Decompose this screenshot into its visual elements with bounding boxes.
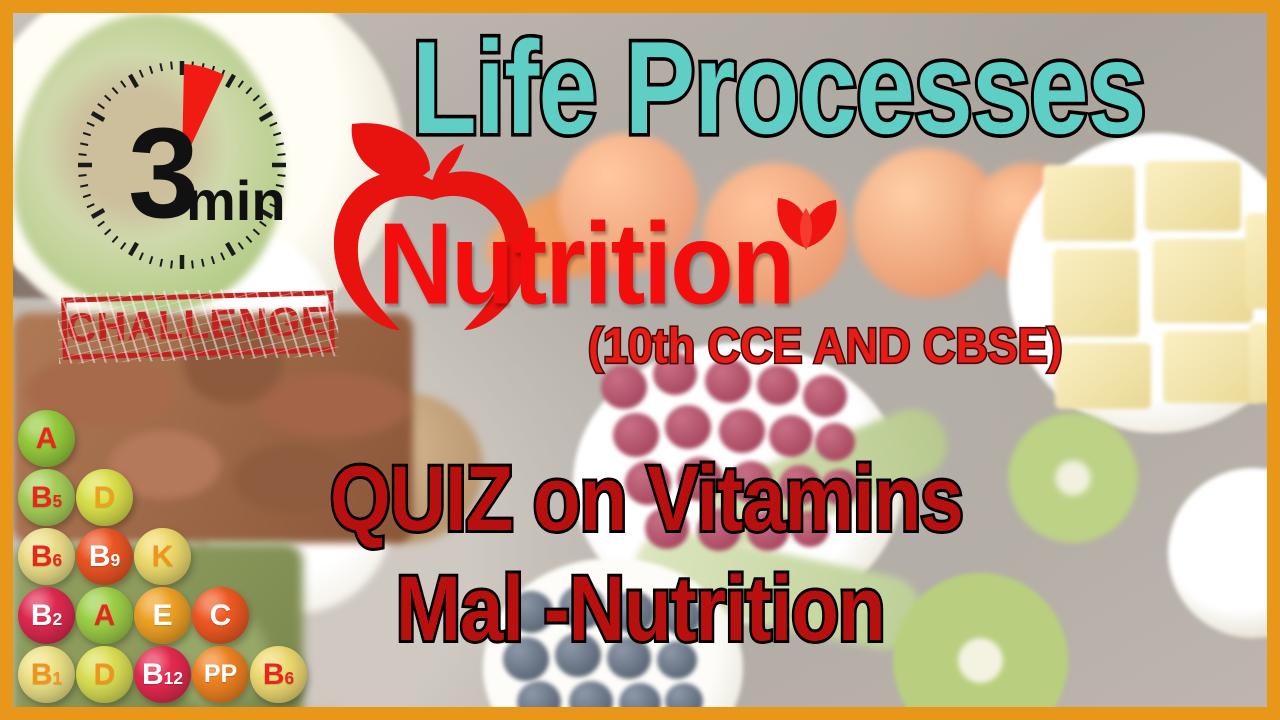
vitamin-ball-subscript: 6 — [53, 552, 63, 569]
vitamin-ball-pyramid: AB5DB6B9KB2AECB1DB12PPB6 — [14, 410, 324, 706]
vitamin-ball-label: D — [94, 483, 116, 513]
vitamin-ball-label: B5 — [31, 483, 62, 513]
vitamin-ball-label: B12 — [142, 660, 183, 690]
stamp-border: CHALLENGE — [61, 290, 335, 360]
page-title-life-processes: Life Processes — [412, 22, 1145, 154]
vitamin-ball-subscript: 5 — [53, 493, 63, 510]
vitamin-ball-label: B6 — [31, 542, 62, 572]
vitamin-ball-b5: B5 — [18, 469, 75, 526]
vitamin-ball-label: PP — [204, 662, 237, 687]
vitamin-ball-b2: B2 — [18, 587, 75, 644]
cranberry — [803, 375, 847, 417]
thumbnail-canvas: 3 min CHALLENGE AB5DB6B9KB2AECB1DB12PPB6… — [0, 0, 1280, 720]
vitamin-ball-label: D — [94, 660, 116, 690]
vitamin-ball-label: A — [36, 424, 58, 454]
vitamin-ball-b6: B6 — [250, 646, 307, 703]
challenge-stamp: CHALLENGE — [61, 290, 335, 360]
vitamin-ball-label: B9 — [89, 542, 120, 572]
vitamin-ball-d: D — [76, 646, 133, 703]
stamp-label: CHALLENGE — [66, 301, 330, 348]
vitamin-ball-label: B6 — [263, 660, 294, 690]
vitamin-ball-b6: B6 — [18, 528, 75, 585]
timer-unit-label: min — [186, 169, 286, 232]
cheese-cube — [1053, 249, 1139, 337]
vitamin-ball-label: B1 — [31, 660, 62, 690]
timer-graphic: 3 min — [66, 42, 298, 288]
title-nutrition: Nutrition — [378, 206, 793, 322]
vitamin-ball-subscript: 9 — [111, 552, 121, 569]
cheese-cube — [1145, 161, 1241, 231]
vitamin-ball-label: K — [152, 542, 174, 572]
vitamin-ball-a: A — [76, 587, 133, 644]
vitamin-ball-b9: B9 — [76, 528, 133, 585]
kiwi-slice — [1008, 413, 1138, 543]
vitamin-ball-pp: PP — [192, 646, 249, 703]
cranberry — [665, 405, 711, 449]
vitamin-ball-b12: B12 — [134, 646, 191, 703]
vitamin-ball-label: B2 — [31, 601, 62, 631]
vitamin-ball-subscript: 6 — [285, 670, 295, 687]
cheese-cube — [1153, 239, 1253, 323]
vitamin-ball-subscript: 2 — [53, 611, 63, 628]
vitamin-ball-k: K — [134, 528, 191, 585]
vitamin-ball-d: D — [76, 469, 133, 526]
headline-mal-nutrition: Mal -Nutrition — [396, 562, 885, 654]
vitamin-ball-b1: B1 — [18, 646, 75, 703]
vitamin-ball-e: E — [134, 587, 191, 644]
vitamin-ball-subscript: 1 — [53, 670, 63, 687]
cheese-cube — [1055, 343, 1151, 409]
vitamin-ball-label: E — [152, 601, 172, 631]
cheese-cube — [1163, 331, 1261, 403]
vitamin-ball-subscript: 12 — [164, 670, 183, 687]
headline-quiz-on-vitamins: QUIZ on Vitamins — [330, 452, 963, 544]
cheese-cube — [1043, 165, 1135, 241]
three-leaf-sprout-icon — [752, 178, 860, 258]
vitamin-ball-label: C — [210, 601, 232, 631]
cheese-cube — [1249, 323, 1267, 403]
vitamin-ball-c: C — [192, 587, 249, 644]
vitamin-ball-label: A — [94, 601, 116, 631]
subtitle-board: (10th CCE AND CBSE) — [588, 322, 1063, 371]
vitamin-ball-a: A — [18, 410, 75, 467]
cheese-cube — [1245, 213, 1267, 309]
